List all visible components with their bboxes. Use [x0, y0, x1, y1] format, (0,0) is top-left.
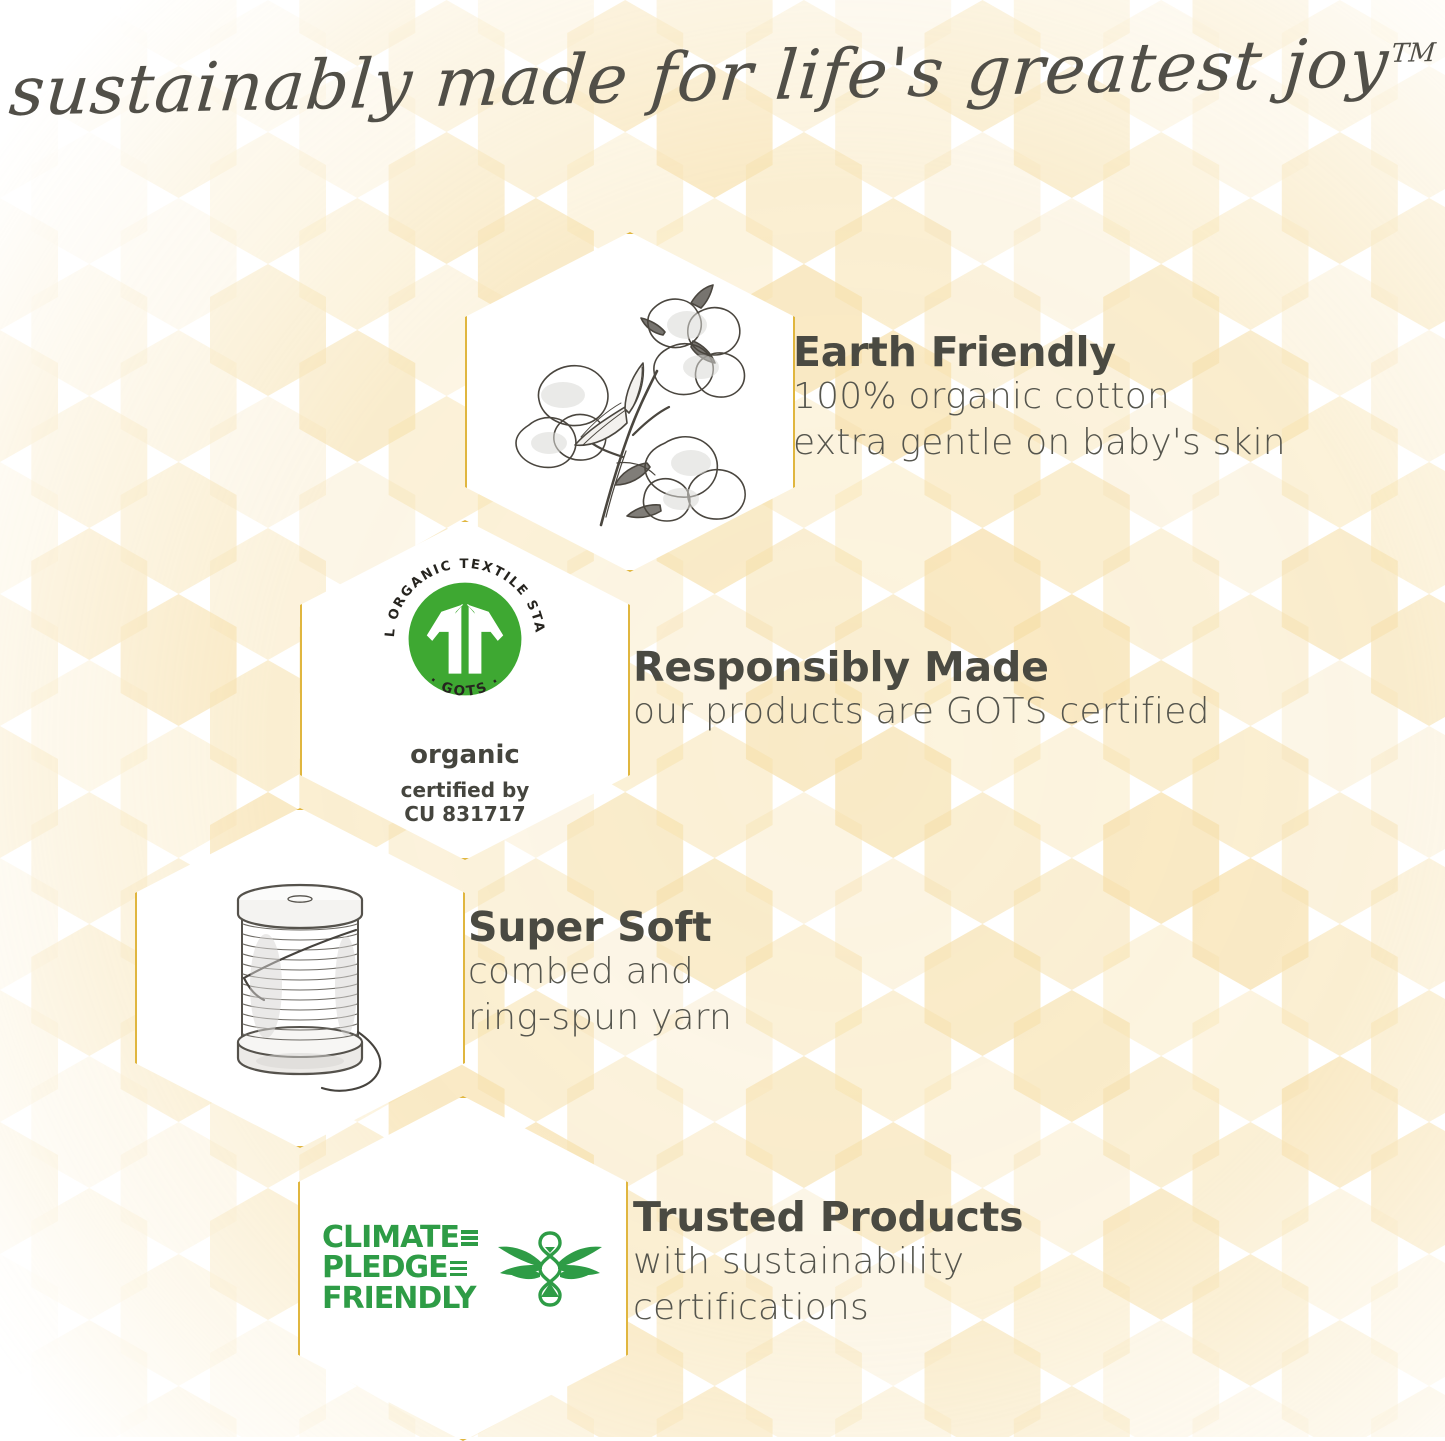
gots-organic-label: organic	[410, 740, 520, 770]
feature-hex-earth-friendly	[465, 232, 795, 572]
cpf-bars-icon	[450, 1261, 467, 1277]
gots-certified-by-label: certified by	[401, 778, 530, 802]
feature-title: Trusted Products	[633, 1195, 1023, 1239]
feature-line: 100% organic cotton	[793, 374, 1286, 420]
feature-line: certifications	[633, 1285, 1023, 1331]
gots-certified-by-block: certified by CU 831717	[401, 778, 530, 827]
gots-certifier-id: CU 831717	[404, 802, 525, 826]
feature-title: Super Soft	[468, 905, 732, 949]
gots-certification-seal-icon: GLOBAL ORGANIC TEXTILE STANDARD · GOTS ·	[374, 548, 556, 730]
cotton-plant-sketch-icon	[505, 267, 755, 537]
page-title: sustainably made for life's greatest joy…	[7, 23, 1439, 132]
climate-pledge-friendly-badge: CLIMATE PLEDGE FRIENDLY	[322, 1223, 604, 1315]
feature-hex-trusted-products: CLIMATE PLEDGE FRIENDLY	[298, 1096, 628, 1441]
feature-text-earth-friendly: Earth Friendly 100% organic cotton extra…	[793, 330, 1286, 466]
cpf-bars-icon	[461, 1230, 478, 1246]
feature-text-super-soft: Super Soft combed and ring-spun yarn	[468, 905, 732, 1041]
feature-hex-super-soft	[135, 808, 465, 1148]
feature-text-trusted-products: Trusted Products with sustainability cer…	[633, 1195, 1023, 1331]
winged-hourglass-icon	[496, 1229, 604, 1309]
feature-line: our products are GOTS certified	[633, 689, 1210, 735]
cpf-line-1: CLIMATE	[322, 1223, 459, 1254]
cpf-line-2: PLEDGE	[322, 1253, 448, 1284]
feature-line: extra gentle on baby's skin	[793, 420, 1286, 466]
trademark-symbol: TM	[1390, 38, 1437, 69]
feature-line: with sustainability	[633, 1239, 1023, 1285]
feature-text-responsibly-made: Responsibly Made our products are GOTS c…	[633, 645, 1210, 735]
headline-container: sustainably made for life's greatest joy…	[0, 38, 1445, 117]
feature-title: Earth Friendly	[793, 330, 1286, 374]
feature-line: ring-spun yarn	[468, 995, 732, 1041]
feature-hex-responsibly-made: GLOBAL ORGANIC TEXTILE STANDARD · GOTS ·…	[300, 520, 630, 860]
feature-line: combed and	[468, 949, 732, 995]
headline-text: sustainably made for life's greatest joy	[7, 24, 1393, 132]
feature-title: Responsibly Made	[633, 645, 1210, 689]
cpf-line-3: FRIENDLY	[322, 1284, 475, 1315]
thread-spool-sketch-icon	[180, 856, 420, 1101]
